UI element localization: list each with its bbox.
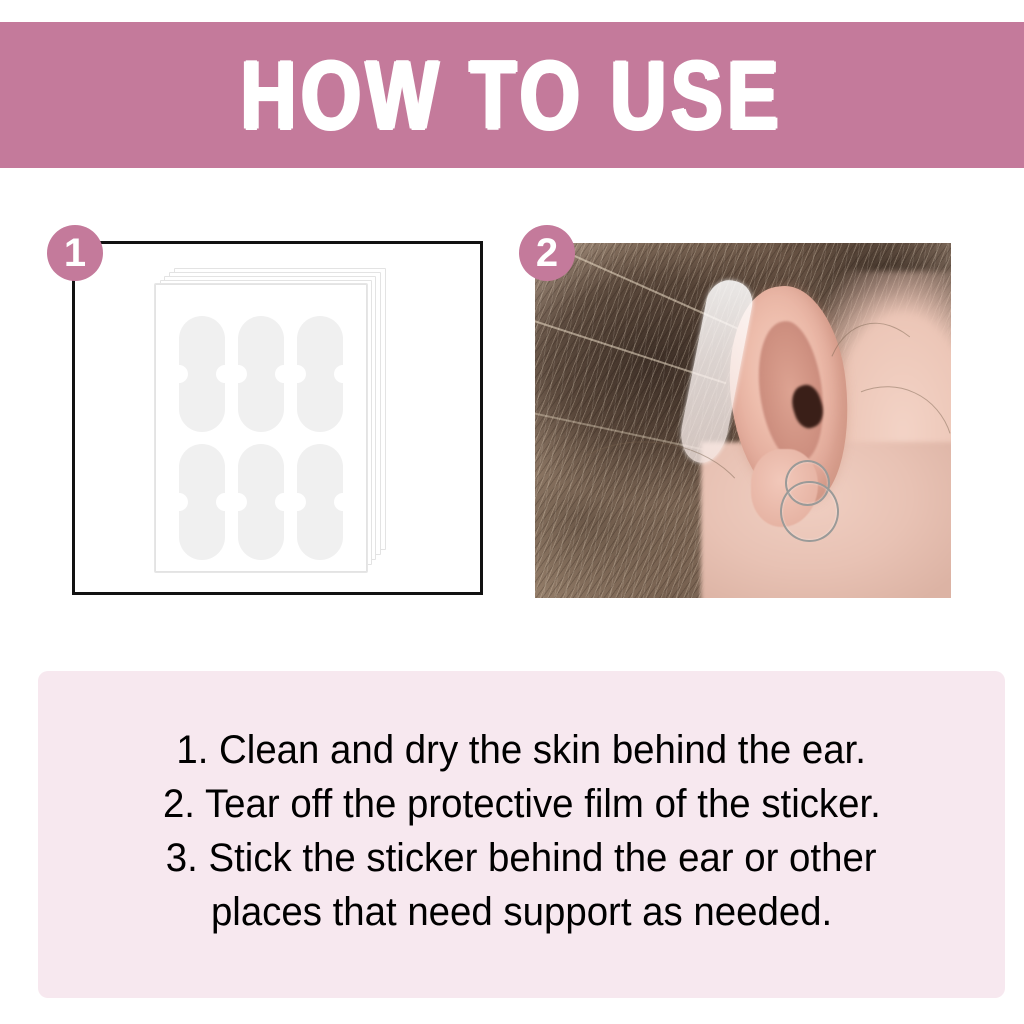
- sticker-shape: [179, 316, 225, 432]
- step-1-illustration-frame: [72, 241, 483, 595]
- sticker-waist: [193, 368, 211, 380]
- sticker-shape: [238, 444, 284, 560]
- instructions-panel: 1. Clean and dry the skin behind the ear…: [38, 671, 1005, 998]
- instruction-line-3: 3. Stick the sticker behind the ear or o…: [166, 831, 877, 885]
- sticker-sheet-stack: [155, 268, 385, 573]
- step-badge-1: 1: [47, 225, 103, 281]
- sticker-waist: [311, 496, 329, 508]
- sticker-shape: [297, 444, 343, 560]
- sticker-shape: [297, 316, 343, 432]
- steps-area: 1 2: [0, 168, 1024, 658]
- sticker-waist: [252, 496, 270, 508]
- sticker-shape: [238, 316, 284, 432]
- page-title: HOW TO USE: [241, 46, 784, 143]
- sticker-waist: [193, 496, 211, 508]
- sticker-waist: [252, 368, 270, 380]
- sticker-shape: [179, 444, 225, 560]
- header-banner: HOW TO USE: [0, 22, 1024, 168]
- step-badge-2: 2: [519, 225, 575, 281]
- instruction-line-2: 2. Tear off the protective film of the s…: [163, 777, 881, 831]
- sticker-waist: [311, 368, 329, 380]
- instruction-line-4: places that need support as needed.: [211, 885, 832, 939]
- sticker-grid: [155, 284, 367, 572]
- step-2-ear-photo: [535, 243, 951, 598]
- instruction-line-1: 1. Clean and dry the skin behind the ear…: [177, 723, 867, 777]
